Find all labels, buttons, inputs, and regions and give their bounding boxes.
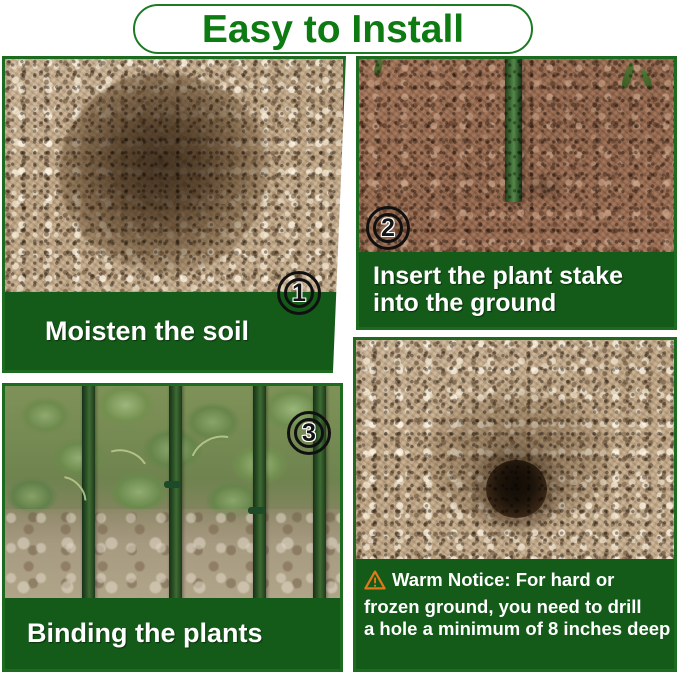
garden-stake-3 <box>253 386 266 598</box>
warning-triangle-icon <box>364 570 386 596</box>
plant-tie-2 <box>248 507 265 514</box>
step-number-badge-1: 1 <box>277 271 321 315</box>
step-3-caption: Binding the plants <box>5 598 340 669</box>
step-3-photo <box>5 386 340 598</box>
step-panel-1: Moisten the soil <box>2 56 346 373</box>
warning-notice-line-2: frozen ground, you need to drill <box>364 596 668 619</box>
warning-panel: Warm Notice: For hard or frozen ground, … <box>353 337 677 672</box>
plant-tie-1 <box>164 481 181 488</box>
step-panel-2: Insert the plant stake into the ground <box>356 56 677 330</box>
step-1-photo <box>5 59 343 292</box>
warning-notice-line-1: Warm Notice: For hard or <box>364 569 668 596</box>
step-number-3: 3 <box>302 421 316 446</box>
warning-notice: Warm Notice: For hard or frozen ground, … <box>356 559 674 669</box>
warning-notice-line-3: a hole a minimum of 8 inches deep <box>364 618 668 641</box>
drilled-hole-photo <box>356 340 674 562</box>
warning-notice-text-1: Warm Notice: For hard or <box>392 569 614 590</box>
step-number-2: 2 <box>381 216 395 241</box>
soil-speckles <box>356 340 674 562</box>
step-2-caption-line-1: Insert the plant stake <box>373 263 674 290</box>
garden-stake-2 <box>169 386 182 598</box>
step-number-1: 1 <box>292 281 306 306</box>
step-number-badge-3: 3 <box>287 411 331 455</box>
step-2-caption: Insert the plant stake into the ground <box>359 252 674 327</box>
easy-to-install-infographic: Easy to Install Moisten the soil 1 Inser… <box>0 0 679 676</box>
step-number-badge-2: 2 <box>366 206 410 250</box>
soil-speckles <box>5 59 343 292</box>
step-1-caption-line-1: Moisten the soil <box>45 316 343 347</box>
page-title-box: Easy to Install <box>133 4 533 54</box>
step-3-caption-line-1: Binding the plants <box>27 618 340 649</box>
step-2-caption-line-2: into the ground <box>373 290 674 317</box>
page-title: Easy to Install <box>202 10 464 49</box>
